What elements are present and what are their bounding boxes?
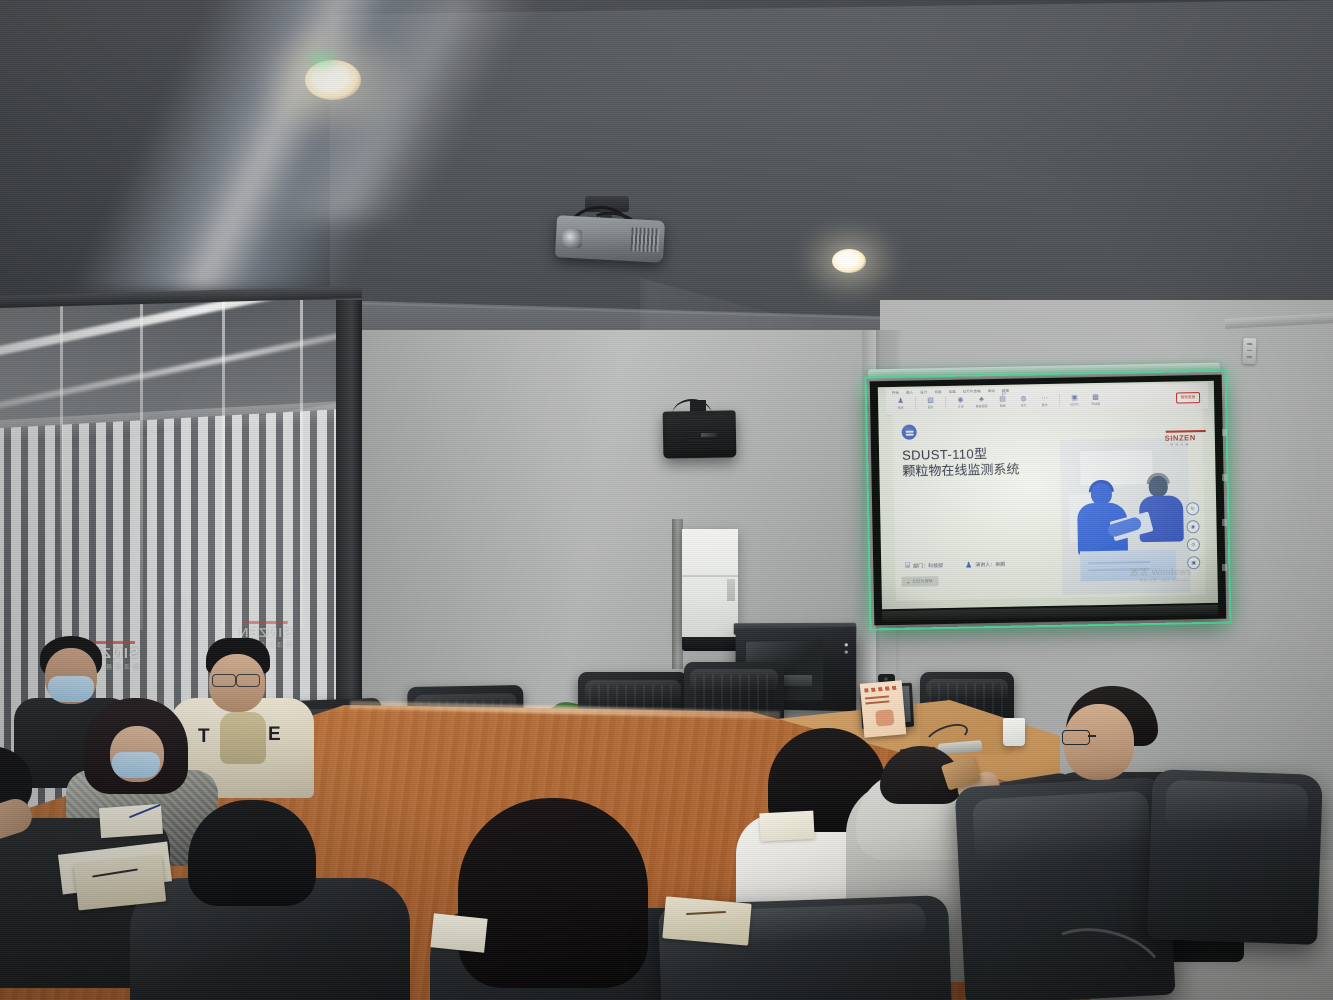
- person-hair: [188, 800, 316, 906]
- ppt-tool-text[interactable]: ◉ 文本: [954, 397, 967, 409]
- poster-figure: [875, 709, 894, 727]
- glass-mullion: [60, 300, 63, 630]
- ppt-tool-label: 智能图形: [976, 404, 988, 408]
- projector-lens-icon: [561, 228, 582, 248]
- wall-unit-panel: [727, 579, 735, 601]
- windows-activation-watermark: 激活 Windows 转到"设置"以激活 Windows。: [1129, 564, 1191, 584]
- paper-sheet: [759, 811, 814, 842]
- jacket-letter-e: E: [268, 724, 284, 746]
- notebook[interactable]: [74, 856, 166, 911]
- glasses-icon: [1062, 730, 1090, 745]
- ppt-tool-label: 幻灯片: [1070, 402, 1079, 406]
- ppt-tool-label: 本文: [1021, 403, 1027, 407]
- attendee-back-of-head-left: [150, 800, 380, 1000]
- ppt-tool-more[interactable]: ⋯ 更多: [1038, 395, 1051, 407]
- ppt-tool-transition[interactable]: ▩ 节动画: [1089, 394, 1102, 406]
- table-icon: ▤: [999, 396, 1006, 403]
- paper-sheet: [99, 804, 163, 838]
- attendee-long-hair: [440, 798, 690, 1000]
- wall-speaker: [663, 410, 737, 458]
- ppt-tool-label: 形状: [898, 406, 904, 410]
- ppt-toolbar: ♟ 形状 ▧ 图片 ◉ 文本 ♣ 智能图形: [894, 393, 1102, 410]
- glasses-icon: [212, 674, 236, 687]
- ppt-tool-label: 更多: [1042, 403, 1048, 407]
- lens-flare-green: [305, 48, 339, 70]
- ppt-tool-chart[interactable]: ▤ 图表: [996, 396, 1009, 408]
- slide-meta-department-text: 部门：科技部: [913, 562, 943, 570]
- slide-brand-logo: SINZEN 新泽仪器: [1165, 433, 1196, 447]
- glass-frame-right: [336, 300, 362, 740]
- department-icon: ⌸: [905, 561, 910, 571]
- slide-meta-presenter: ♟ 演讲人：吴鹏: [965, 559, 1005, 569]
- presenter-icon: ♟: [965, 560, 972, 569]
- screen-surface: 开始 插入 设计 切换 动画 幻灯片放映 审阅 视图 ▷ ♟ 形状: [878, 381, 1218, 609]
- ppt-tool-shape[interactable]: ♟ 形状: [894, 398, 907, 410]
- image-icon: ▧: [927, 397, 934, 404]
- wall-unit-seam: [682, 575, 738, 577]
- poster-heading: [864, 686, 897, 693]
- person-hair: [458, 798, 648, 988]
- projector-vent: [630, 227, 659, 252]
- slideshow-icon: ▸: [907, 579, 909, 584]
- wall-mounted-air-unit: [682, 529, 738, 641]
- slide-brand-name: SINZEN: [1165, 433, 1196, 443]
- ppt-tab[interactable]: 审阅: [988, 388, 995, 393]
- slide-canvas: SDUST-110型 颗粒物在线监测系统: [892, 409, 1206, 601]
- notebook[interactable]: [662, 896, 751, 945]
- chair-right-far[interactable]: [1147, 769, 1323, 945]
- ppt-tool-label: 图片: [928, 405, 934, 409]
- media-icon: ◍: [1020, 395, 1026, 402]
- ppt-tab-row: 开始 插入 设计 切换 动画 幻灯片放映 审阅 视图: [892, 388, 1009, 395]
- slide-meta-row: ⌸ 部门：科技部 ♟ 演讲人：吴鹏: [905, 559, 1005, 571]
- ceiling-downlight-right: [832, 249, 866, 273]
- status-badge: ▸ 幻灯片放映: [901, 576, 938, 587]
- ppt-tool-smartart[interactable]: ♣ 智能图形: [975, 396, 988, 408]
- slide-meta-department: ⌸ 部门：科技部: [905, 560, 943, 571]
- ppt-tab[interactable]: 设计: [920, 389, 927, 394]
- slide-brand-sub: 新泽仪器: [1165, 442, 1196, 447]
- ppt-tab[interactable]: 动画: [949, 389, 956, 394]
- glass-mullion: [222, 300, 225, 630]
- ppt-tab[interactable]: 开始: [892, 390, 899, 395]
- slide-icon: ▣: [1071, 394, 1078, 401]
- wall-unit-base: [682, 637, 738, 651]
- toolbar-divider: [945, 396, 946, 409]
- slide-meta-presenter-text: 演讲人：吴鹏: [975, 560, 1005, 568]
- slide-title: SDUST-110型 颗粒物在线监测系统: [902, 445, 1053, 480]
- ppt-tab[interactable]: 幻灯片放映: [963, 388, 981, 393]
- ppt-tab[interactable]: 插入: [906, 390, 913, 395]
- person-icon: ♟: [897, 398, 903, 405]
- ceiling-glare-secondary: [140, 0, 660, 220]
- slide-control-dot-icon[interactable]: ⊙: [1187, 538, 1200, 551]
- glasses-bridge: [1088, 735, 1096, 737]
- transition-icon: ▩: [1092, 394, 1099, 401]
- slide-control-circle-icon[interactable]: ◉: [1186, 520, 1199, 533]
- speaker-badge: [701, 433, 717, 437]
- glass-mullion: [140, 300, 143, 630]
- slide-side-controls: ↻ ◉ ⊙ ▣: [1186, 502, 1200, 569]
- toolbar-divider: [915, 397, 916, 410]
- screen-side-markers: [1222, 410, 1228, 590]
- ppt-tool-media[interactable]: ◍ 本文: [1017, 395, 1030, 407]
- rack-status-led-icon: [845, 643, 848, 646]
- glass-mullion: [300, 300, 303, 630]
- status-badge-text: 幻灯片放映: [912, 578, 932, 584]
- face-mask: [48, 676, 94, 702]
- meeting-room-photo: SINZEN 新泽仪器 SINZEN 新泽仪器: [0, 0, 1333, 1000]
- poster-text: [865, 695, 889, 699]
- ceiling-projector: [555, 215, 665, 263]
- ppt-tool-label: 图表: [1000, 404, 1006, 408]
- hoodie-underlayer: [220, 712, 266, 764]
- more-icon: ⋯: [1041, 395, 1048, 402]
- ppt-tool-label: 节动画: [1091, 402, 1100, 406]
- slide-title-line2: 颗粒物在线监测系统: [902, 461, 1052, 480]
- chart-icon: ♣: [979, 396, 984, 403]
- slide-title-line1: SDUST-110型: [902, 446, 988, 463]
- ppt-tool-image[interactable]: ▧ 图片: [924, 397, 937, 409]
- shape-icon: ◉: [957, 397, 963, 404]
- projection-screen: 开始 插入 设计 切换 动画 幻灯片放映 审阅 视图 ▷ ♟ 形状: [870, 375, 1227, 626]
- illustration-person2-head: [1149, 476, 1168, 497]
- brand-circle-icon: [902, 425, 917, 440]
- paper-sheet: [430, 913, 487, 952]
- ppt-tab[interactable]: 切换: [934, 389, 941, 394]
- watermark-line2: 转到"设置"以激活 Windows。: [1130, 577, 1192, 584]
- slide-control-refresh-icon[interactable]: ↻: [1186, 502, 1199, 515]
- watermark-line1: 激活 Windows: [1129, 564, 1191, 578]
- screen-control-panel[interactable]: [1243, 338, 1257, 364]
- ppt-tool-slide[interactable]: ▣ 幻灯片: [1068, 394, 1081, 406]
- downlight-core-2: [832, 249, 866, 273]
- slide-brand-text: SINZEN: [1165, 433, 1196, 443]
- glasses-icon: [236, 674, 260, 687]
- resource-cta-button[interactable]: 稻壳资源: [1176, 392, 1201, 403]
- toolbar-divider: [1059, 394, 1060, 407]
- ppt-tool-label: 文本: [958, 405, 964, 409]
- illustration-panel: [1080, 450, 1153, 485]
